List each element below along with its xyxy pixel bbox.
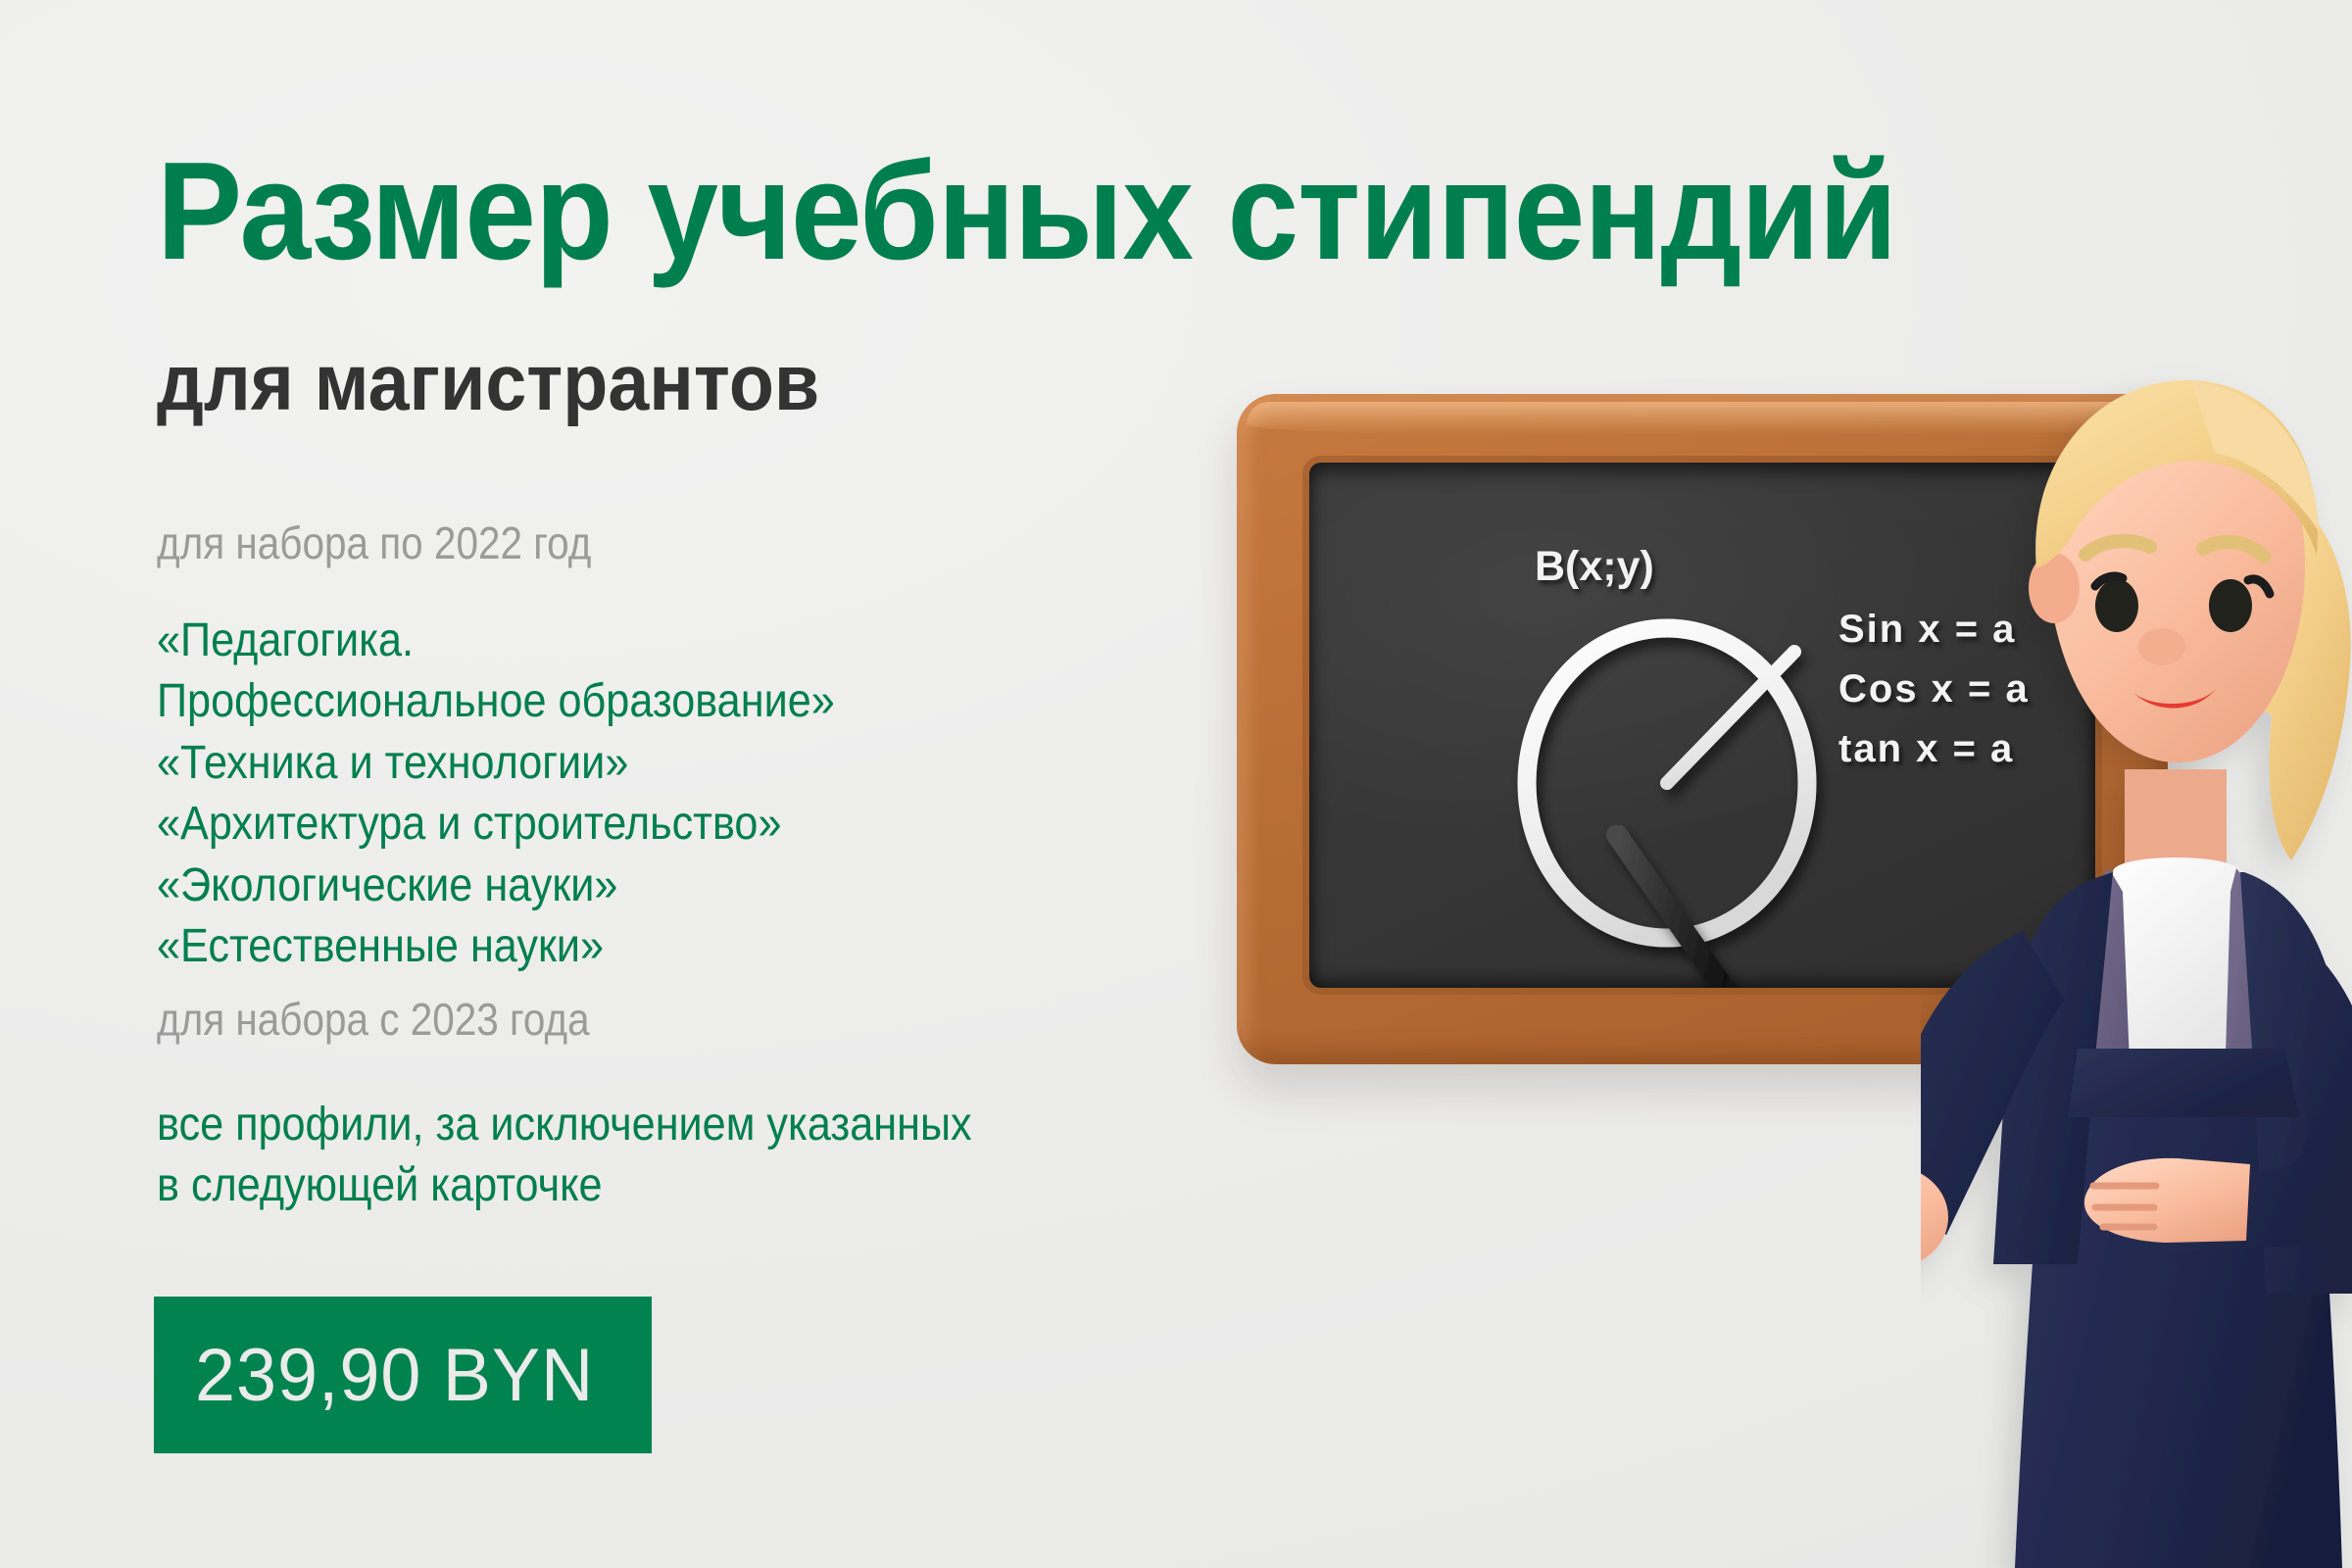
eye-left bbox=[2095, 579, 2138, 632]
list-item: «Техника и технологии» bbox=[157, 733, 835, 794]
page-title: Размер учебных стипендий bbox=[157, 142, 1896, 281]
group-note-2023: все профили, за исключением указанных в … bbox=[157, 1095, 972, 1217]
list-item: «Экологические науки» bbox=[157, 856, 835, 916]
list-item: «Архитектура и строительство» bbox=[157, 794, 835, 855]
group-label-2022: для набора по 2022 год bbox=[157, 516, 591, 569]
nose bbox=[2138, 628, 2185, 665]
list-item: «Естественные науки» bbox=[157, 916, 835, 977]
infographic-card: Размер учебных стипендий для магистранто… bbox=[0, 0, 2352, 1568]
price-badge: 239,90 BYN bbox=[154, 1297, 652, 1453]
page-subtitle: для магистрантов bbox=[157, 343, 819, 423]
price-amount: 239,90 BYN bbox=[195, 1333, 594, 1418]
group-label-2023: для набора с 2023 года bbox=[157, 993, 590, 1046]
eye-right bbox=[2209, 579, 2252, 632]
teacher-character-illustration bbox=[1921, 323, 2352, 1568]
specialty-list: «Педагогика. Профессиональное образовани… bbox=[157, 611, 835, 977]
cardigan-waist bbox=[2068, 1049, 2299, 1117]
list-item: «Педагогика. Профессиональное образовани… bbox=[157, 611, 835, 733]
